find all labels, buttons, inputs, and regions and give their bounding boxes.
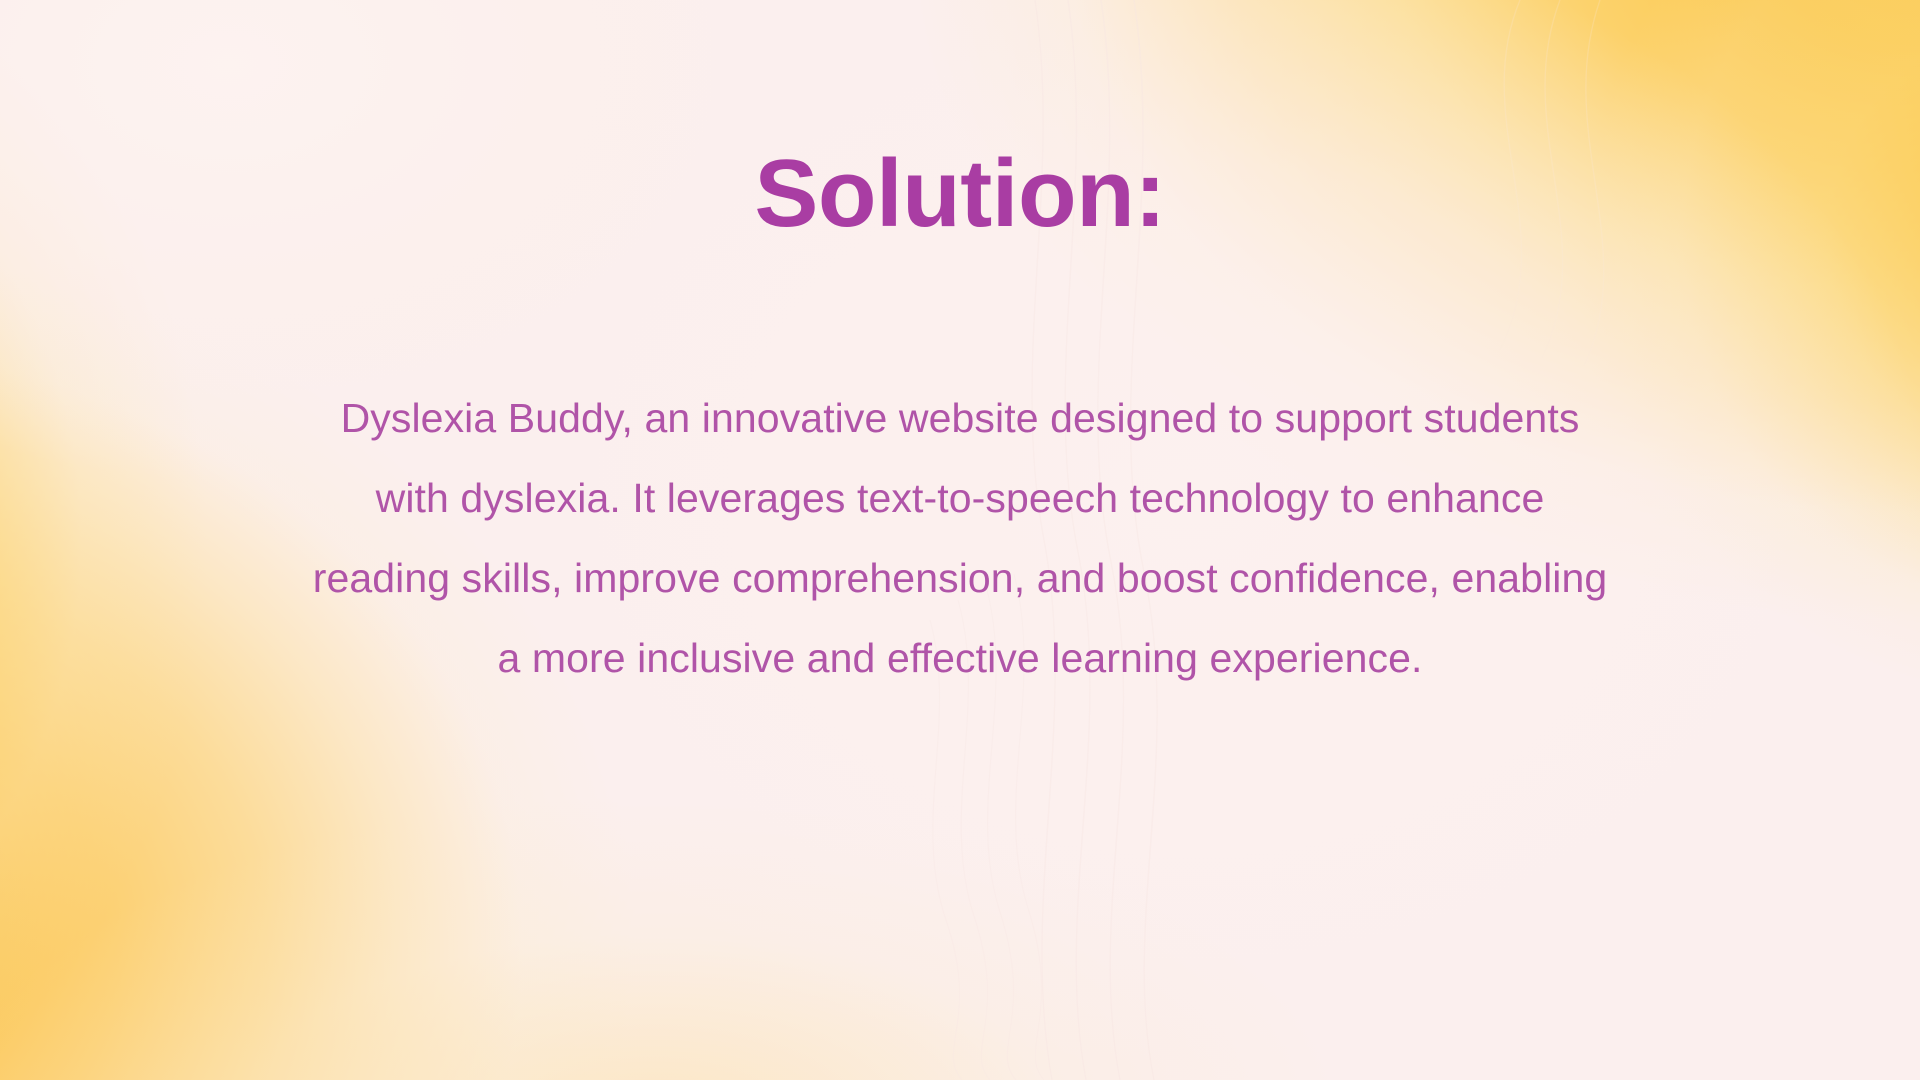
slide-content: Solution: Dyslexia Buddy, an innovative … [0,0,1920,1080]
body-line: Dyslexia Buddy, an innovative website de… [155,378,1765,458]
page-title: Solution: [0,140,1920,248]
body-line: a more inclusive and effective learning … [155,618,1765,698]
body-line: with dyslexia. It leverages text-to-spee… [155,458,1765,538]
body-line: reading skills, improve comprehension, a… [155,538,1765,618]
slide-canvas: Solution: Dyslexia Buddy, an innovative … [0,0,1920,1080]
body-paragraph: Dyslexia Buddy, an innovative website de… [155,378,1765,698]
